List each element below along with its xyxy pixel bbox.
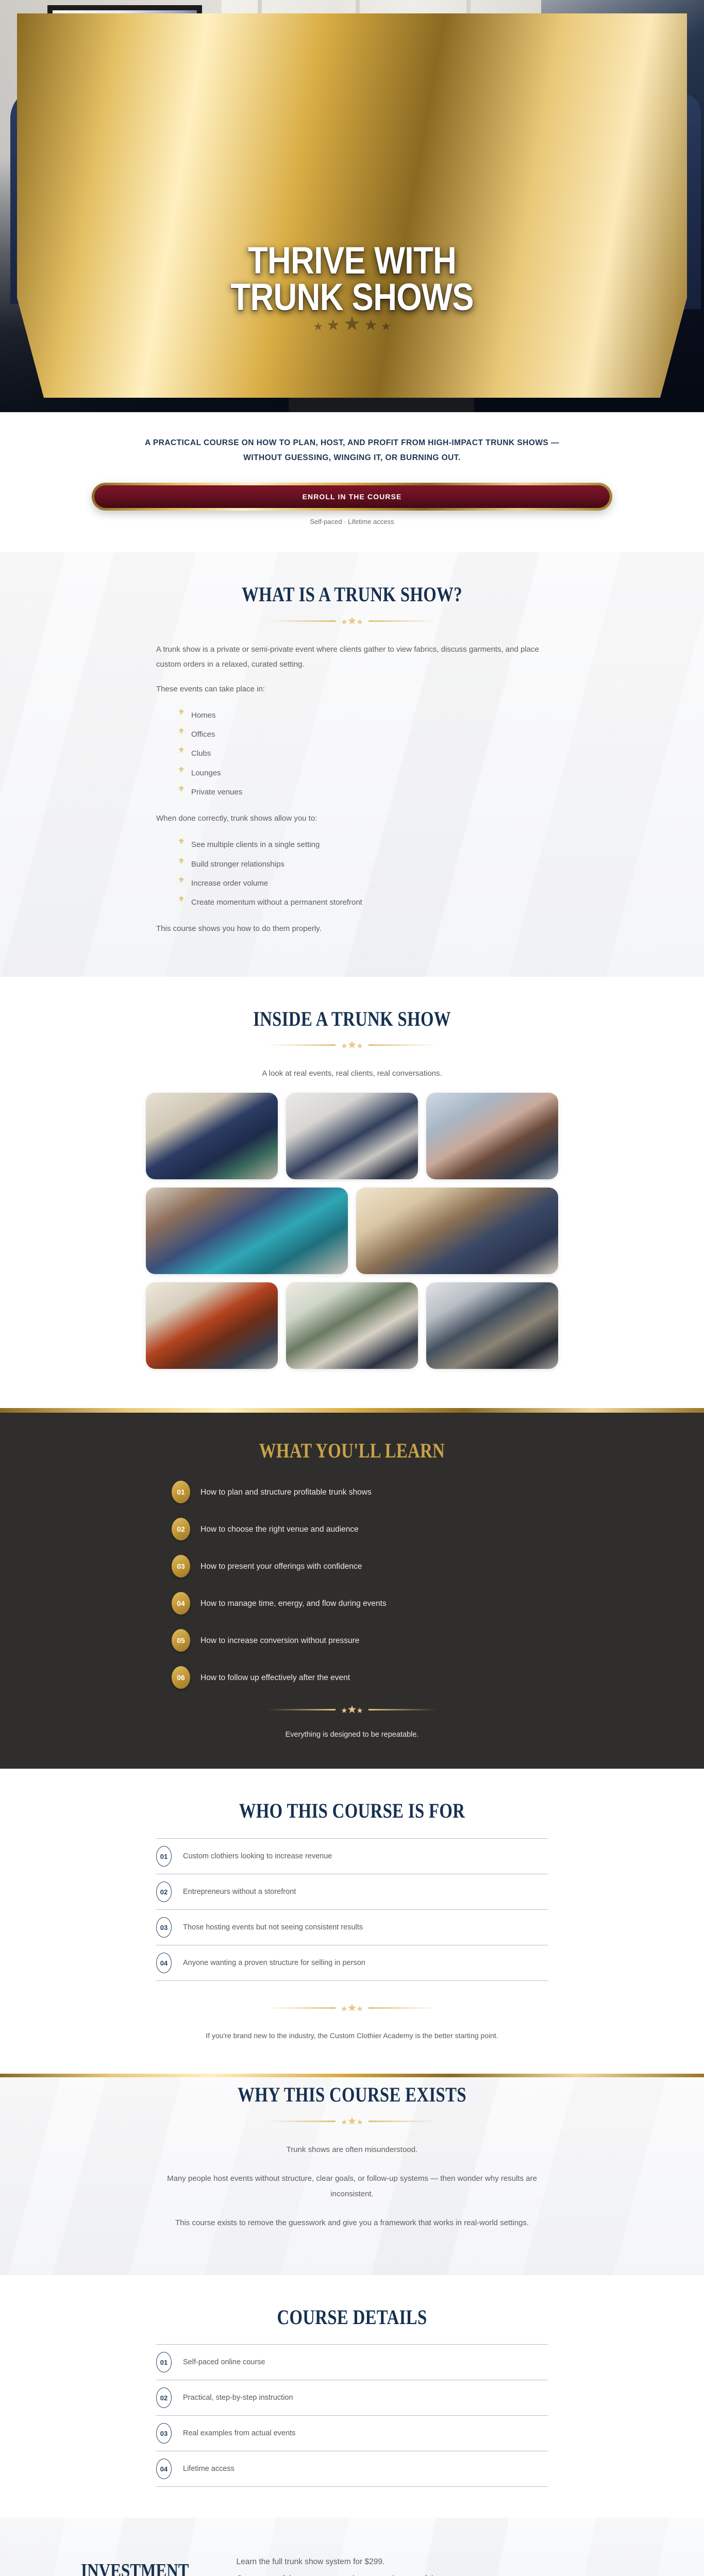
enroll-button-top-label: ENROLL IN THE COURSE	[94, 485, 610, 508]
list-item: ⚜Private venues	[178, 783, 548, 802]
list-item-label: Entrepreneurs without a storefront	[183, 1888, 296, 1896]
star-divider: ★★★	[267, 1703, 437, 1716]
list-item: 02 Entrepreneurs without a storefront	[156, 1874, 548, 1910]
fleur-bullet-icon: ⚜	[178, 766, 185, 774]
list-item-label: How to increase conversion without press…	[200, 1635, 359, 1647]
list-item-label: Offices	[191, 730, 215, 739]
gallery-photo[interactable]	[356, 1188, 558, 1274]
who-for-note: If you're brand new to the industry, the…	[0, 2029, 704, 2043]
list-item: 02 Practical, step-by-step instruction	[156, 2380, 548, 2416]
why-paragraph: Many people host events without structur…	[156, 2171, 548, 2202]
three-star-ornament-icon: ★★★	[341, 615, 363, 628]
divider-line-right	[368, 620, 437, 622]
list-item-label: Self-paced online course	[183, 2358, 265, 2366]
divider-line-left	[267, 620, 336, 622]
hero-gold-frame	[17, 13, 687, 398]
fleur-bullet-icon: ⚜	[178, 895, 185, 903]
why-paragraph: Trunk shows are often misunderstood.	[156, 2142, 548, 2158]
gallery-photo[interactable]	[146, 1093, 278, 1179]
list-item: 01 How to plan and structure profitable …	[172, 1481, 532, 1503]
list-item-label: Private venues	[191, 788, 242, 796]
inside-a-trunk-show-section: INSIDE A TRUNK SHOW ★★★ A look at real e…	[0, 977, 704, 1408]
list-item: 03 Real examples from actual events	[156, 2416, 548, 2451]
list-item-label: How to plan and structure profitable tru…	[200, 1487, 372, 1498]
step-number-badge: 02	[172, 1518, 190, 1540]
list-item: 06 How to follow up effectively after th…	[172, 1666, 532, 1689]
star-divider: ★★★	[267, 615, 437, 628]
fleur-bullet-icon: ⚜	[178, 857, 185, 865]
list-item: 04 Lifetime access	[156, 2451, 548, 2487]
list-item-label: Practical, step-by-step instruction	[183, 2394, 293, 2402]
step-number-badge: 04	[172, 1592, 190, 1615]
investment-price-line: Learn the full trunk show system for $29…	[237, 2554, 469, 2571]
list-item: ⚜Build stronger relationships	[178, 855, 548, 874]
step-number-ring: 04	[156, 2459, 172, 2479]
step-number-ring: 03	[156, 2423, 172, 2444]
list-item: 01 Self-paced online course	[156, 2344, 548, 2380]
step-number-badge: 03	[172, 1555, 190, 1578]
three-star-ornament-icon: ★★★	[341, 1703, 363, 1716]
list-item: ⚜Lounges	[178, 764, 548, 783]
enroll-button-top[interactable]: ENROLL IN THE COURSE	[92, 483, 612, 511]
list-item: ⚜Clubs	[178, 744, 548, 763]
list-item-label: Clubs	[191, 749, 211, 758]
divider-line-right	[368, 2121, 437, 2122]
list-item-label: Custom clothiers looking to increase rev…	[183, 1852, 332, 1860]
list-item-label: How to manage time, energy, and flow dur…	[200, 1598, 387, 1609]
list-item: ⚜Offices	[178, 725, 548, 744]
investment-value-line: One successful event can more than cover…	[237, 2571, 469, 2576]
investment-section: INVESTMENT Learn the full trunk show sys…	[0, 2518, 704, 2576]
fleur-bullet-icon: ⚜	[178, 708, 185, 716]
gallery-row-3	[146, 1282, 558, 1369]
inside-subtitle: A look at real events, real clients, rea…	[94, 1066, 610, 1081]
why-this-course-exists-section: WHY THIS COURSE EXISTS ★★★ Trunk shows a…	[0, 2074, 704, 2275]
fleur-bullet-icon: ⚜	[178, 785, 185, 793]
list-item: 02 How to choose the right venue and aud…	[172, 1518, 532, 1540]
list-item-label: Real examples from actual events	[183, 2429, 295, 2437]
step-number-ring: 02	[156, 1882, 172, 1902]
list-item: ⚜Homes	[178, 706, 548, 725]
benefits-list: ⚜See multiple clients in a single settin…	[178, 835, 548, 912]
list-item: 04 How to manage time, energy, and flow …	[172, 1592, 532, 1615]
list-item: 03 How to present your offerings with co…	[172, 1555, 532, 1578]
fleur-bullet-icon: ⚜	[178, 727, 185, 735]
step-number-ring: 02	[156, 2387, 172, 2408]
star-divider: ★★★	[267, 2115, 437, 2128]
step-number-ring: 04	[156, 1953, 172, 1973]
investment-copy: Learn the full trunk show system for $29…	[237, 2554, 469, 2576]
what-is-heading: WHAT IS A TRUNK SHOW?	[191, 583, 512, 606]
what-is-closing: This course shows you how to do them pro…	[156, 921, 548, 936]
who-for-list: 01 Custom clothiers looking to increase …	[156, 1838, 548, 1981]
step-number-badge: 06	[172, 1666, 190, 1689]
learn-heading: WHAT YOU'LL LEARN	[63, 1439, 641, 1463]
who-for-heading: WHO THIS COURSE IS FOR	[63, 1800, 641, 1823]
list-item-label: Homes	[191, 711, 216, 720]
hero-section: THRIVE WITH TRUNK SHOWS ★★★★★	[0, 0, 704, 412]
list-item-label: Create momentum without a permanent stor…	[191, 898, 362, 907]
hero-content: THRIVE WITH TRUNK SHOWS ★★★★★	[0, 242, 704, 330]
gallery-photo[interactable]	[146, 1188, 348, 1274]
list-item-label: How to choose the right venue and audien…	[200, 1524, 359, 1535]
what-is-a-trunk-show-section: WHAT IS A TRUNK SHOW? ★★★ A trunk show i…	[0, 552, 704, 976]
list-item-label: Lounges	[191, 769, 221, 777]
list-item: ⚜Increase order volume	[178, 874, 548, 893]
list-item-label: Those hosting events but not seeing cons…	[183, 1923, 363, 1931]
hero-title-line-1: THRIVE WITH	[49, 242, 655, 279]
list-item-label: Build stronger relationships	[191, 860, 284, 869]
divider-line-right	[368, 1709, 437, 1710]
star-divider: ★★★	[267, 1039, 437, 1052]
gallery-photo[interactable]	[426, 1282, 558, 1369]
photo-gallery	[146, 1093, 558, 1369]
gallery-photo[interactable]	[426, 1093, 558, 1179]
gallery-photo[interactable]	[286, 1093, 418, 1179]
gallery-photo[interactable]	[146, 1282, 278, 1369]
list-item: 01 Custom clothiers looking to increase …	[156, 1838, 548, 1874]
why-paragraph: This course exists to remove the guesswo…	[156, 2215, 548, 2231]
fleur-bullet-icon: ⚜	[178, 876, 185, 884]
step-number-badge: 01	[172, 1481, 190, 1503]
three-star-ornament-icon: ★★★	[341, 2115, 363, 2128]
step-number-ring: 01	[156, 1846, 172, 1867]
gallery-row-1	[146, 1093, 558, 1179]
gallery-row-2	[146, 1188, 558, 1274]
list-item-label: Lifetime access	[183, 2465, 234, 2473]
list-item-label: Anyone wanting a proven structure for se…	[183, 1959, 365, 1967]
divider-line-left	[267, 1709, 336, 1710]
why-heading: WHY THIS COURSE EXISTS	[191, 2083, 512, 2107]
what-is-intro: A trunk show is a private or semi-privat…	[156, 642, 548, 672]
step-number-ring: 01	[156, 2352, 172, 2372]
three-star-ornament-icon: ★★★	[341, 2002, 363, 2014]
hero-title: THRIVE WITH TRUNK SHOWS	[49, 242, 655, 315]
star-divider: ★★★	[267, 2002, 437, 2014]
investment-heading: INVESTMENT	[81, 2560, 189, 2576]
fleur-bullet-icon: ⚜	[178, 838, 185, 845]
cta-note-top: Self-paced · Lifetime access	[0, 518, 704, 526]
list-item-label: Increase order volume	[191, 879, 268, 888]
course-details-section: COURSE DETAILS 01 Self-paced online cour…	[0, 2275, 704, 2518]
details-list: 01 Self-paced online course 02 Practical…	[156, 2344, 548, 2487]
tagline-section: A PRACTICAL COURSE ON HOW TO PLAN, HOST,…	[0, 412, 704, 552]
learn-note: Everything is designed to be repeatable.	[0, 1731, 704, 1739]
venues-label: These events can take place in:	[156, 682, 548, 697]
list-item: 03 Those hosting events but not seeing c…	[156, 1910, 548, 1945]
primary-cta-wrapper: ENROLL IN THE COURSE	[0, 483, 704, 511]
who-this-course-is-for-section: WHO THIS COURSE IS FOR 01 Custom clothie…	[0, 1769, 704, 2073]
list-item: 04 Anyone wanting a proven structure for…	[156, 1945, 548, 1981]
hero-title-line-2: TRUNK SHOWS	[49, 279, 655, 315]
gallery-photo[interactable]	[286, 1282, 418, 1369]
learn-list: 01 How to plan and structure profitable …	[172, 1481, 532, 1689]
landing-page: THRIVE WITH TRUNK SHOWS ★★★★★ A PRACTICA…	[0, 0, 704, 2576]
step-number-badge: 05	[172, 1629, 190, 1652]
five-star-ornament-icon: ★★★★★	[0, 324, 704, 330]
list-item-label: How to present your offerings with confi…	[200, 1561, 362, 1572]
step-number-ring: 03	[156, 1917, 172, 1938]
list-item-label: See multiple clients in a single setting	[191, 840, 320, 849]
list-item: ⚜See multiple clients in a single settin…	[178, 835, 548, 854]
fleur-bullet-icon: ⚜	[178, 747, 185, 754]
benefits-label: When done correctly, trunk shows allow y…	[156, 811, 548, 826]
divider-line-right	[368, 1044, 437, 1046]
divider-line-left	[267, 2121, 336, 2122]
list-item-label: How to follow up effectively after the e…	[200, 1672, 350, 1684]
divider-line-left	[267, 1044, 336, 1046]
three-star-ornament-icon: ★★★	[341, 1039, 363, 1052]
divider-line-right	[368, 2007, 437, 2009]
inside-heading: INSIDE A TRUNK SHOW	[141, 1008, 563, 1031]
what-youll-learn-section: WHAT YOU'LL LEARN 01 How to plan and str…	[0, 1408, 704, 1769]
list-item: ⚜Create momentum without a permanent sto…	[178, 893, 548, 912]
divider-line-left	[267, 2007, 336, 2009]
venues-list: ⚜Homes ⚜Offices ⚜Clubs ⚜Lounges ⚜Private…	[178, 706, 548, 802]
tagline-text: A PRACTICAL COURSE ON HOW TO PLAN, HOST,…	[125, 436, 579, 465]
list-item: 05 How to increase conversion without pr…	[172, 1629, 532, 1652]
details-heading: COURSE DETAILS	[63, 2306, 641, 2329]
